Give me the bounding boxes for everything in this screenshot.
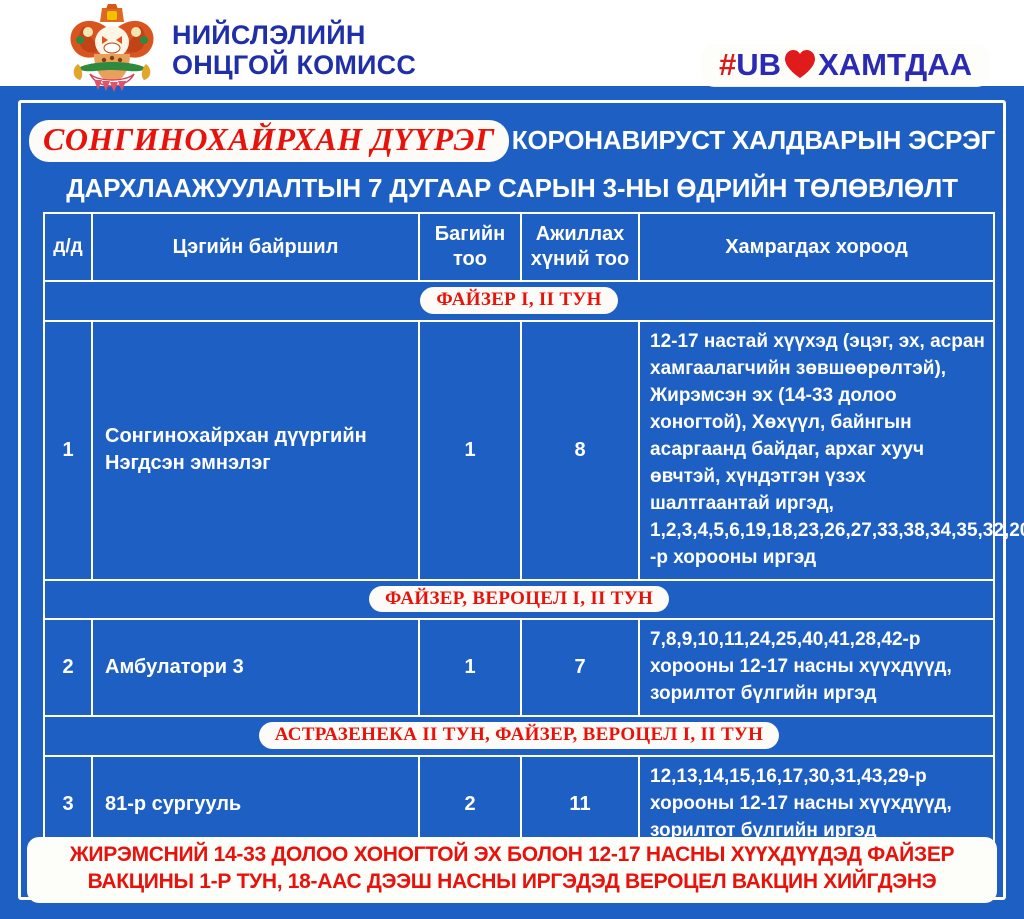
title-line-2: ДАРХЛААЖУУЛАЛТЫН 7 ДУГААР САРЫН 3-НЫ ӨДР… [28, 173, 996, 204]
row-team-count: 1 [419, 321, 521, 580]
footer-notice-banner: ЖИРЭМСНИЙ 14-33 ДОЛОО ХОНОГТОЙ ЭХ БОЛОН … [27, 837, 997, 903]
footer-notice-line-1: ЖИРЭМСНИЙ 14-33 ДОЛОО ХОНОГТОЙ ЭХ БОЛОН … [35, 842, 989, 869]
hashtag-badge: #UB ХАМТДАА [701, 44, 990, 86]
section-heading-row: ФАЙЗЕР I, II ТУН [44, 281, 994, 321]
section-heading-cell: АСТРАЗЕНЕКА II ТУН, ФАЙЗЕР, ВЕРОЦЕЛ I, I… [44, 716, 994, 756]
page-title: СОНГИНОХАЙРХАН ДҮҮРЭГ КОРОНАВИРУСТ ХАЛДВ… [28, 120, 996, 204]
section-heading-row: ФАЙЗЕР, ВЕРОЦЕЛ I, II ТУН [44, 580, 994, 620]
row-team-count: 1 [419, 619, 521, 716]
table-body: ФАЙЗЕР I, II ТУН 1 Сонгинохайрхан дүүрги… [44, 281, 994, 895]
hash-symbol: # [719, 47, 736, 82]
col-header-staff-count-bottom: хүний тоо [531, 248, 629, 270]
hashtag-word: ХАМТДАА [818, 49, 972, 80]
vaccine-dose-badge: ФАЙЗЕР, ВЕРОЦЕЛ I, II ТУН [369, 586, 669, 613]
table-header: д/д Цэгийн байршил Багийн тоо Ажиллах хү… [44, 213, 994, 281]
row-index: 2 [44, 619, 92, 716]
row-staff-count: 8 [521, 321, 639, 580]
title-line-1: СОНГИНОХАЙРХАН ДҮҮРЭГ КОРОНАВИРУСТ ХАЛДВ… [28, 120, 996, 162]
title-subject: КОРОНАВИРУСТ ХАЛДВАРЫН ЭСРЭГ [512, 125, 995, 156]
ulaanbaatar-city-emblem-icon [64, 2, 160, 94]
vaccine-dose-badge: ФАЙЗЕР I, II ТУН [420, 287, 617, 314]
row-khoroo-list: 7,8,9,10,11,24,25,40,41,28,42-р хорооны … [639, 619, 994, 716]
hashtag-ub: #UB [719, 49, 781, 80]
heart-icon [783, 48, 817, 80]
col-header-team-count-bottom: тоо [453, 248, 487, 270]
row-index: 1 [44, 321, 92, 580]
footer-notice-line-2: ВАКЦИНЫ 1-Р ТУН, 18-ААС ДЭЭШ НАСНЫ ИРГЭД… [35, 869, 989, 896]
col-header-team-count-top: Багийн [435, 223, 506, 245]
row-staff-count: 7 [521, 619, 639, 716]
table-header-row: д/д Цэгийн байршил Багийн тоо Ажиллах хү… [44, 213, 994, 281]
col-header-khoroo: Хамрагдах хороод [639, 213, 994, 281]
district-badge: СОНГИНОХАЙРХАН ДҮҮРЭГ [29, 120, 509, 162]
col-header-staff-count-top: Ажиллах [536, 223, 625, 245]
table-row: 2 Амбулатори 3 1 7 7,8,9,10,11,24,25,40,… [44, 619, 994, 716]
section-heading-row: АСТРАЗЕНЕКА II ТУН, ФАЙЗЕР, ВЕРОЦЕЛ I, I… [44, 716, 994, 756]
section-heading-cell: ФАЙЗЕР I, II ТУН [44, 281, 994, 321]
col-header-index: д/д [44, 213, 92, 281]
poster-panel: СОНГИНОХАЙРХАН ДҮҮРЭГ КОРОНАВИРУСТ ХАЛДВ… [0, 86, 1024, 919]
row-khoroo-list: 12-17 настай хүүхэд (эцэг, эх, асран хам… [639, 321, 994, 580]
vaccine-dose-badge: АСТРАЗЕНЕКА II ТУН, ФАЙЗЕР, ВЕРОЦЕЛ I, I… [259, 722, 780, 749]
brand-text: НИЙСЛЭЛИЙН ОНЦГОЙ КОМИСС [172, 18, 416, 79]
col-header-location: Цэгийн байршил [92, 213, 419, 281]
section-heading-cell: ФАЙЗЕР, ВЕРОЦЕЛ I, II ТУН [44, 580, 994, 620]
table-row: 1 Сонгинохайрхан дүүргийн Нэгдсэн эмнэлэ… [44, 321, 994, 580]
col-header-staff-count: Ажиллах хүний тоо [521, 213, 639, 281]
hashtag-ub-text: UB [736, 47, 781, 82]
schedule-table: д/д Цэгийн байршил Багийн тоо Ажиллах хү… [43, 212, 995, 896]
org-line-2: ОНЦГОЙ КОМИСС [172, 52, 416, 79]
row-location: Амбулатори 3 [92, 619, 419, 716]
row-location: Сонгинохайрхан дүүргийн Нэгдсэн эмнэлэг [92, 321, 419, 580]
brand-lockup: НИЙСЛЭЛИЙН ОНЦГОЙ КОМИСС [64, 2, 416, 94]
col-header-team-count: Багийн тоо [419, 213, 521, 281]
org-line-1: НИЙСЛЭЛИЙН [172, 22, 416, 49]
schedule-table-container: д/д Цэгийн байршил Багийн тоо Ажиллах хү… [43, 212, 993, 896]
